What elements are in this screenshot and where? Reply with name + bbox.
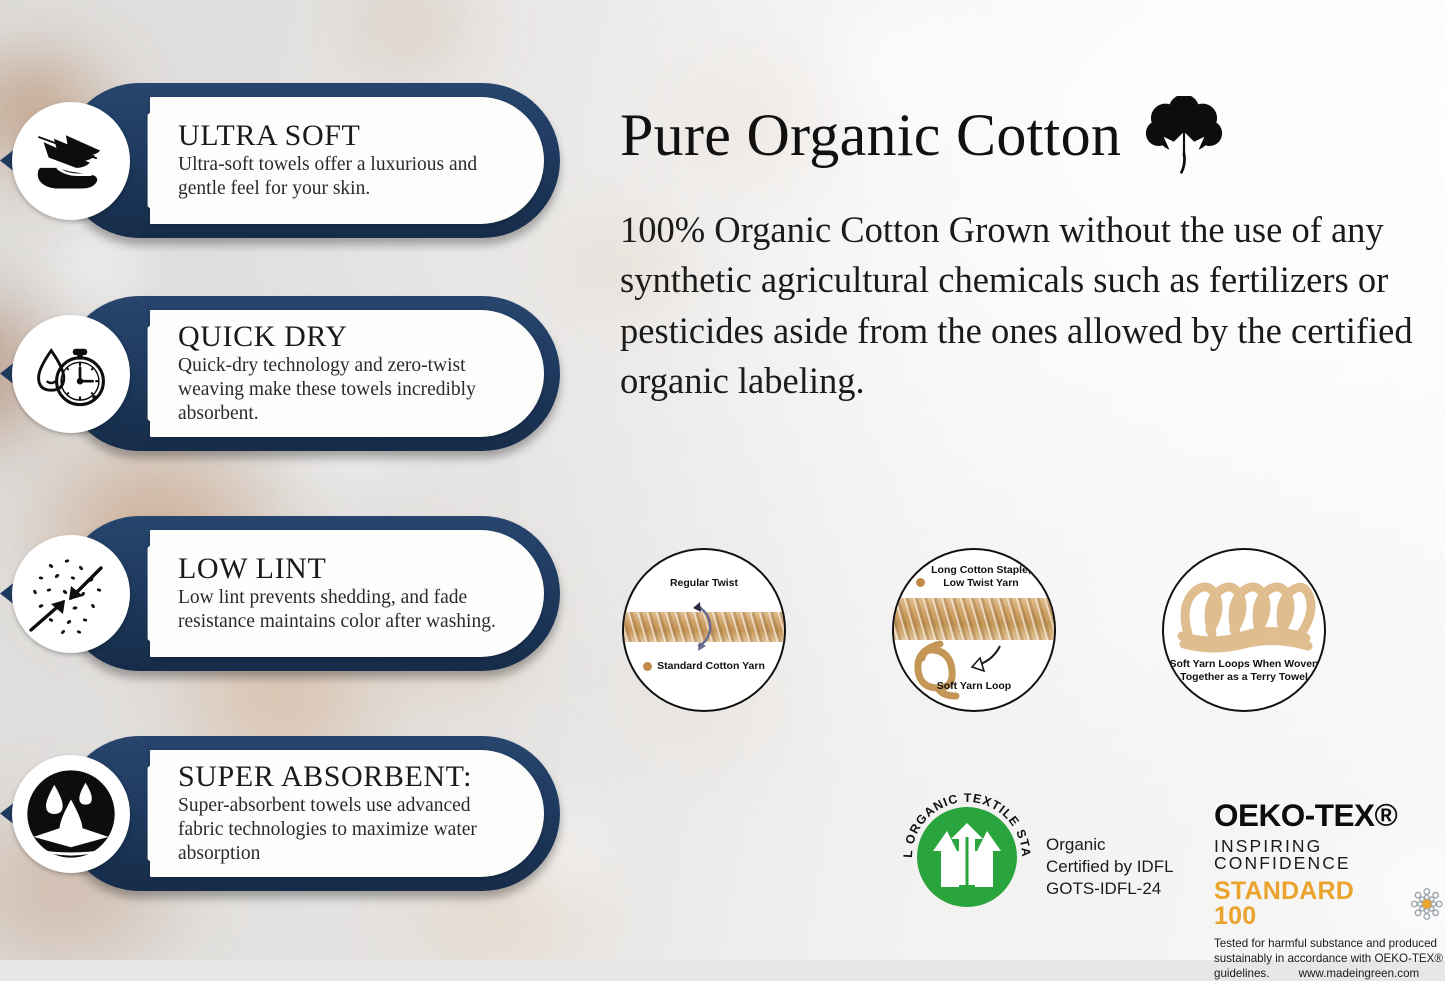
badge-text-panel: QUICK DRY Quick-dry technology and zero-… bbox=[150, 310, 544, 437]
yarn-diagram-bottom-label: Standard Cotton Yarn bbox=[624, 660, 784, 673]
oekotex-flower-icon bbox=[1409, 886, 1445, 922]
gots-line-1: Organic bbox=[1046, 834, 1174, 856]
feature-badge-ultra-soft: ULTRA SOFT Ultra-soft towels offer a lux… bbox=[0, 83, 560, 238]
badge-text-panel: ULTRA SOFT Ultra-soft towels offer a lux… bbox=[150, 97, 544, 224]
badge-description: Ultra-soft towels offer a luxurious and … bbox=[178, 153, 518, 201]
low-twist-yarn-icon bbox=[892, 598, 1056, 640]
oekotex-tagline: INSPIRING CONFIDENCE bbox=[1214, 838, 1445, 873]
oekotex-logo: OEKO-TEX® INSPIRING CONFIDENCE STANDARD … bbox=[1214, 800, 1445, 981]
oekotex-brand: OEKO-TEX® bbox=[1214, 800, 1445, 832]
hero-body-text: 100% Organic Cotton Grown without the us… bbox=[620, 205, 1420, 406]
yarn-diagram-top-label: Regular Twist bbox=[624, 577, 784, 590]
badge-icon-disc bbox=[12, 315, 130, 433]
stopwatch-water-drop-icon bbox=[26, 329, 116, 419]
oekotex-standard: STANDARD 100 bbox=[1214, 879, 1401, 929]
feature-badge-list: ULTRA SOFT Ultra-soft towels offer a lux… bbox=[0, 0, 585, 960]
badge-title: SUPER ABSORBENT: bbox=[178, 761, 518, 793]
badge-icon-disc bbox=[12, 535, 130, 653]
gots-logo: GLOBAL ORGANIC TEXTILE STANDARD · GOTS · bbox=[900, 790, 1034, 924]
hand-holding-feather-icon bbox=[28, 118, 114, 204]
yarn-diagram-terry-loops: Soft Yarn Loops When Woven Together as a… bbox=[1162, 548, 1326, 712]
lint-particles-arrows-icon bbox=[21, 544, 121, 644]
soft-yarn-loop-icon bbox=[894, 638, 1054, 708]
feature-badge-low-lint: LOW LINT Low lint prevents shedding, and… bbox=[0, 516, 560, 671]
feature-badge-super-absorbent: SUPER ABSORBENT: Super-absorbent towels … bbox=[0, 736, 560, 891]
yarn-diagram-group: Regular Twist Standard Cotton Yarn Long … bbox=[612, 548, 1445, 720]
oekotex-url: www.madeingreen.com bbox=[1299, 967, 1420, 980]
yarn-diagram-low-twist: Long Cotton Staple, Low Twist Yarn Soft … bbox=[892, 548, 1056, 712]
badge-title: ULTRA SOFT bbox=[178, 120, 518, 152]
badge-description: Quick-dry technology and zero-twist weav… bbox=[178, 354, 518, 426]
terry-towel-loops-icon bbox=[1172, 572, 1316, 654]
yarn-diagram-bottom-label: Soft Yarn Loops When Woven Together as a… bbox=[1164, 658, 1324, 684]
oekotex-standard-row: STANDARD 100 bbox=[1214, 879, 1445, 929]
gots-line-2: Certified by IDFL bbox=[1046, 856, 1174, 878]
legend-dot bbox=[643, 662, 652, 671]
badge-text-panel: SUPER ABSORBENT: Super-absorbent towels … bbox=[150, 750, 544, 877]
certification-group: GLOBAL ORGANIC TEXTILE STANDARD · GOTS ·… bbox=[612, 782, 1445, 960]
twist-arrow-icon bbox=[690, 596, 716, 658]
gots-certification-text: Organic Certified by IDFL GOTS-IDFL-24 bbox=[1046, 834, 1174, 900]
badge-title: LOW LINT bbox=[178, 553, 518, 585]
cotton-boll-icon bbox=[1141, 96, 1227, 174]
water-drops-on-fabric-icon bbox=[19, 762, 123, 866]
legend-dot bbox=[916, 578, 925, 587]
yarn-diagram-regular-twist: Regular Twist Standard Cotton Yarn bbox=[622, 548, 786, 712]
badge-icon-disc bbox=[12, 755, 130, 873]
right-content-column: Pure Organic Cotton 100% Organic Cotton … bbox=[612, 0, 1445, 960]
oekotex-fineprint: Tested for harmful substance and produce… bbox=[1214, 936, 1445, 981]
hero-headline-row: Pure Organic Cotton bbox=[620, 96, 1227, 174]
page-title: Pure Organic Cotton bbox=[620, 105, 1121, 165]
badge-text-panel: LOW LINT Low lint prevents shedding, and… bbox=[150, 530, 544, 657]
badge-icon-disc bbox=[12, 102, 130, 220]
yarn-diagram-top-label: Long Cotton Staple, Low Twist Yarn bbox=[894, 564, 1054, 590]
feature-badge-quick-dry: QUICK DRY Quick-dry technology and zero-… bbox=[0, 296, 560, 451]
badge-description: Low lint prevents shedding, and fade res… bbox=[178, 586, 518, 634]
badge-description: Super-absorbent towels use advanced fabr… bbox=[178, 794, 518, 866]
badge-title: QUICK DRY bbox=[178, 321, 518, 353]
gots-line-3: GOTS-IDFL-24 bbox=[1046, 878, 1174, 900]
yarn-diagram-bottom-label: Soft Yarn Loop bbox=[894, 680, 1054, 693]
gots-tshirt-arrows-icon bbox=[917, 807, 1017, 907]
